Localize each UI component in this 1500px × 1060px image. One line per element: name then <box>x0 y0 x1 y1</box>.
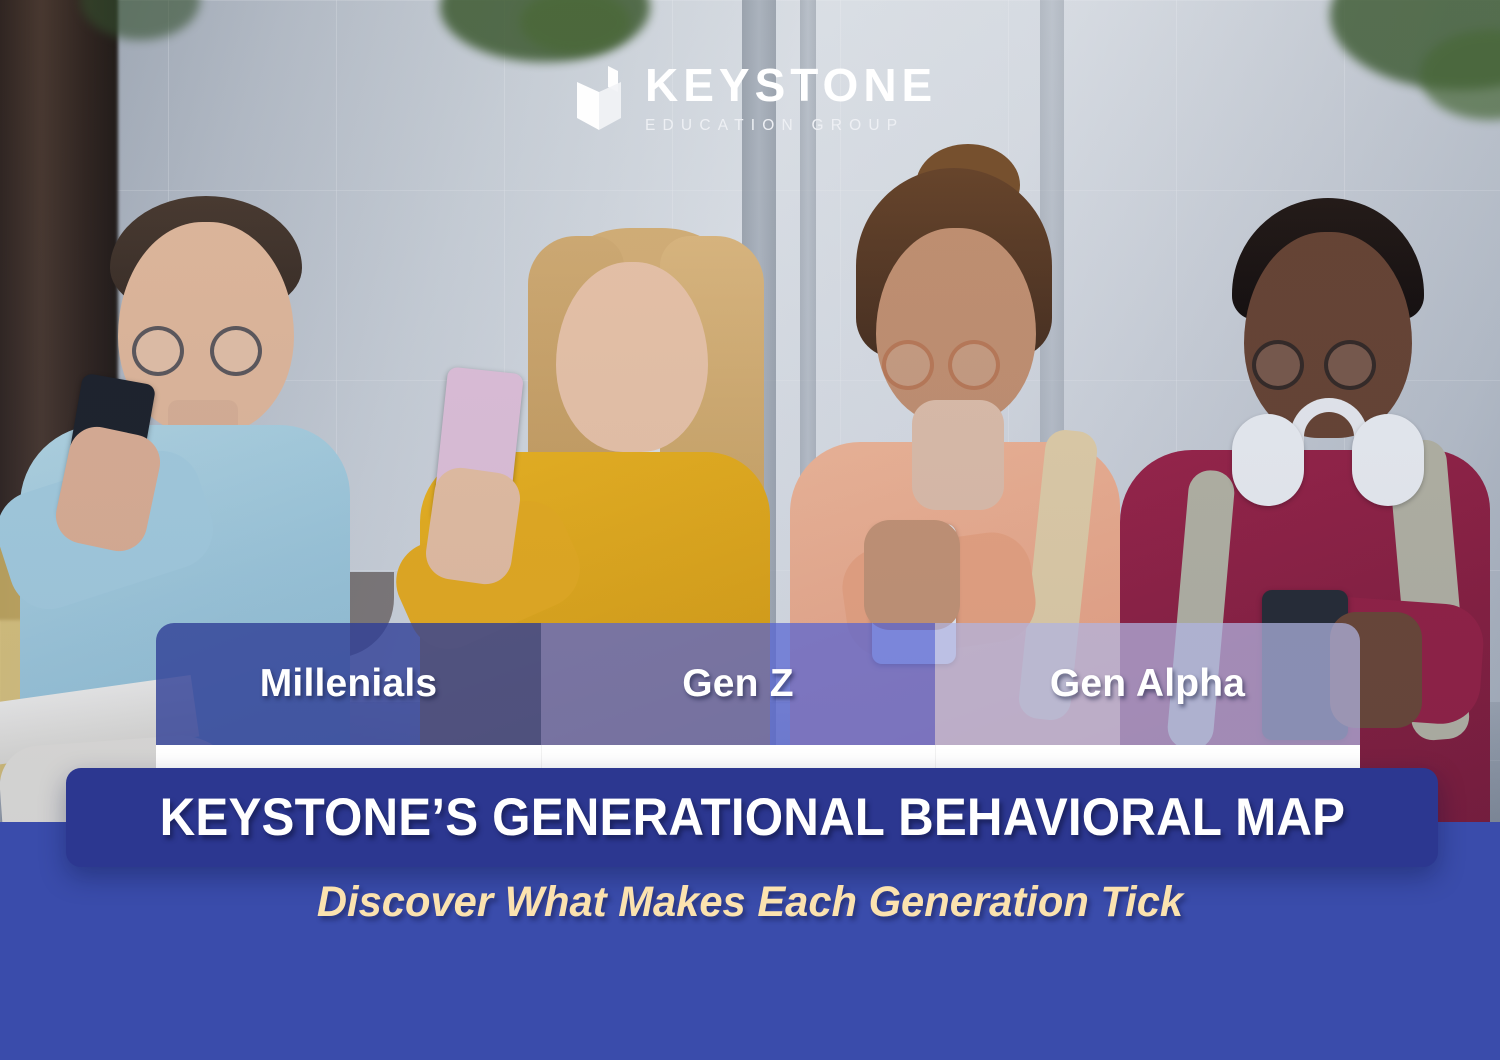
tab-gen-alpha-label: Gen Alpha <box>1050 662 1245 706</box>
poster-canvas: KEYSTONE EDUCATION GROUP Millenials Gen … <box>0 0 1500 1060</box>
title-banner: KEYSTONE’S GENERATIONAL BEHAVIORAL MAP <box>66 768 1438 867</box>
tab-millenials-label: Millenials <box>260 662 438 706</box>
logo-tagline: EDUCATION GROUP <box>645 117 937 135</box>
page-title: KEYSTONE’S GENERATIONAL BEHAVIORAL MAP <box>159 787 1345 848</box>
tab-millenials[interactable]: Millenials <box>156 623 541 745</box>
logo-wordmark: KEYSTONE <box>645 62 937 108</box>
keystone-logo: KEYSTONE EDUCATION GROUP <box>575 62 937 135</box>
tab-gen-z-label: Gen Z <box>682 662 794 706</box>
generation-tabs: Millenials Gen Z Gen Alpha <box>156 623 1360 745</box>
tab-gen-z[interactable]: Gen Z <box>541 623 935 745</box>
tab-gen-alpha[interactable]: Gen Alpha <box>935 623 1360 745</box>
page-subtitle: Discover What Makes Each Generation Tick <box>23 878 1478 927</box>
open-book-icon <box>575 64 623 134</box>
